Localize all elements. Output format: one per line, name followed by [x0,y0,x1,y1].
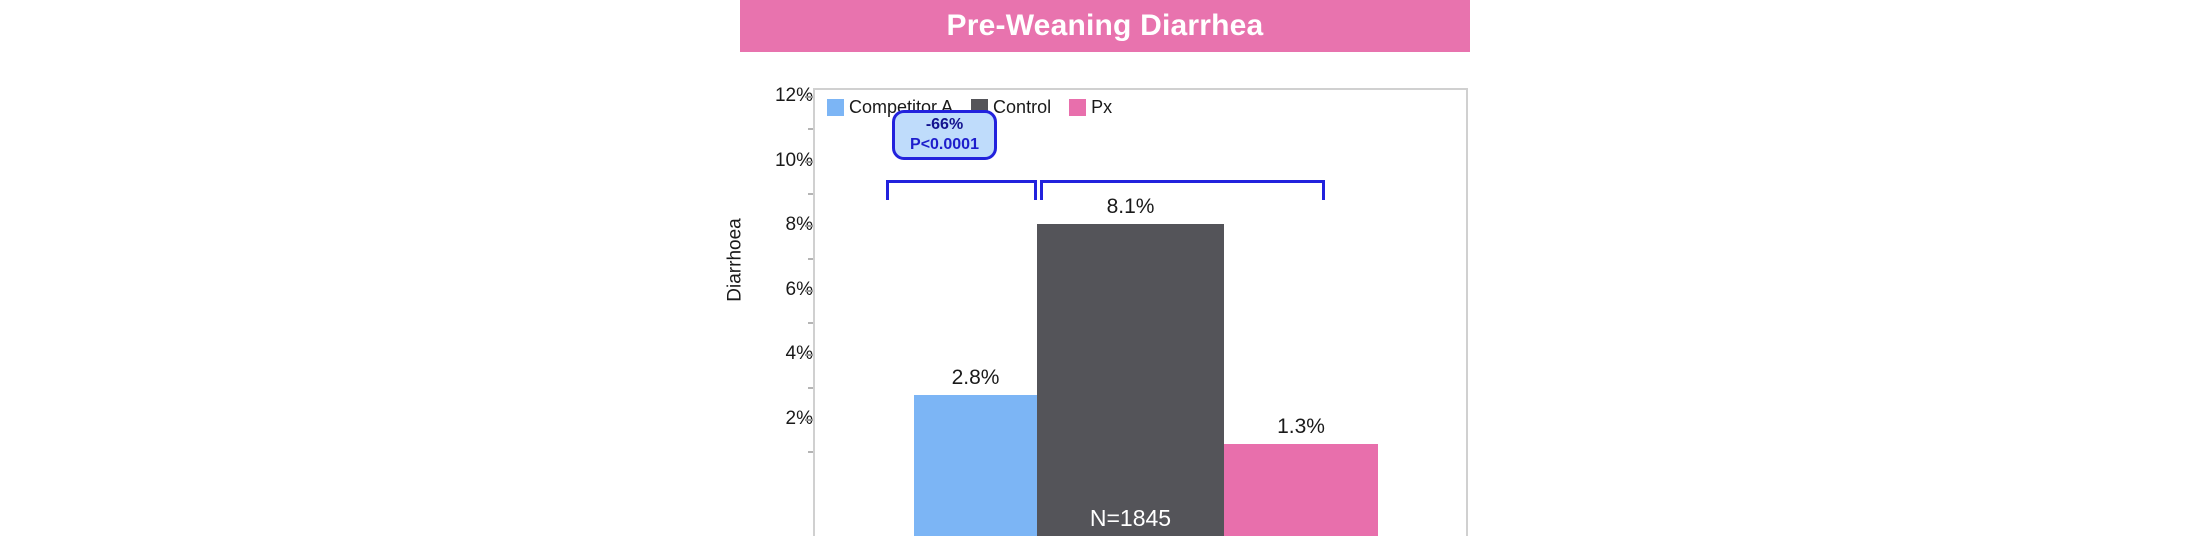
bar-control[interactable] [1037,224,1224,536]
bar-value-competitor-a: 2.8% [914,366,1037,390]
chart-page: Pre-Weaning Diarrhea Diarrhoea 2%4%6%8%1… [0,0,2201,536]
y-axis-title-label: Diarrhoea [725,218,747,301]
title-banner: Pre-Weaning Diarrhea [740,0,1470,52]
y-tick-mark [805,354,813,356]
y-tick-mark [805,290,813,292]
bar-value-control: 8.1% [1037,195,1224,219]
y-tick-mark [805,96,813,98]
y-axis-ticks: 2%4%6%8%10%12% [756,0,813,536]
bar-competitor-a[interactable] [914,395,1037,536]
y-tick-mark [805,161,813,163]
bar-value-px: 1.3% [1224,415,1378,439]
page-title: Pre-Weaning Diarrhea [947,9,1264,43]
y-tick-mark [805,225,813,227]
chart-plot-frame: Competitor A Control Px -66% P<0.0001 -8… [813,88,1468,536]
sample-size-label: N=1845 [1037,505,1224,532]
y-tick-mark [805,419,813,421]
plot-area: 2.8% 8.1% 1.3% N=1845 [815,90,1466,536]
y-axis-title: Diarrhoea [721,180,751,340]
bar-px[interactable] [1224,444,1378,536]
